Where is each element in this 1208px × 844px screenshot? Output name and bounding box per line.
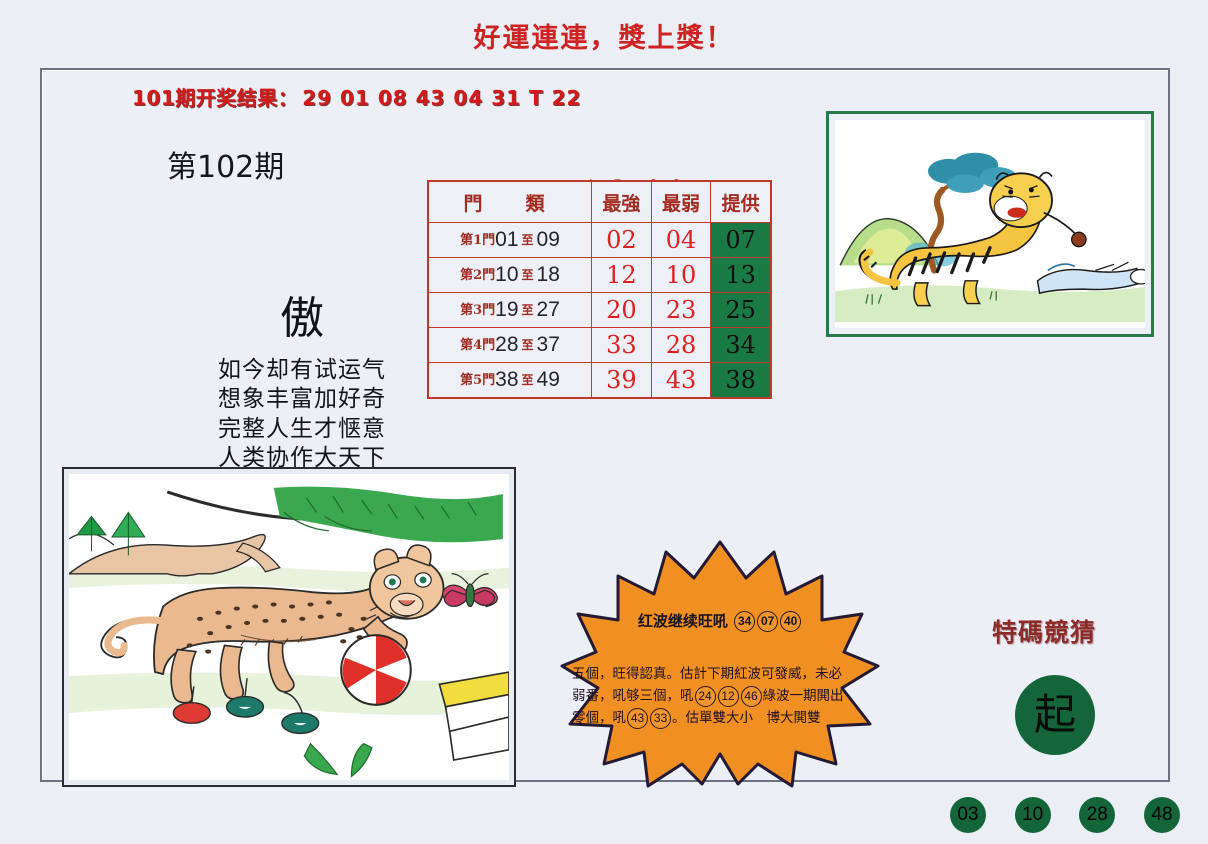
cell-gate-range: 第5門38至49	[428, 363, 592, 399]
poem-line: 完整人生才惬意	[182, 415, 422, 444]
cell-strongest: 33	[592, 328, 652, 363]
table-row: 第2門10至18 12 10 13	[428, 258, 771, 293]
gate-range-to: 18	[537, 263, 560, 286]
gate-range-to: 09	[537, 228, 560, 251]
gate-range-from: 01	[495, 228, 518, 251]
cell-strongest: 12	[592, 258, 652, 293]
col-header-weakest: 最弱	[651, 181, 711, 223]
gate-label: 第3門	[460, 303, 495, 318]
poem-line: 想象丰富加好奇	[182, 385, 422, 414]
col-header-gate: 門 類	[428, 181, 592, 223]
col-header-strongest: 最強	[592, 181, 652, 223]
table-header-row: 門 類 最強 最弱 提供	[428, 181, 771, 223]
guess-ball: 10	[1015, 797, 1051, 833]
gate-label: 第2門	[460, 268, 495, 283]
leopard-illustration	[62, 467, 516, 787]
draw-result-line: 101期开奖结果：29 01 08 43 04 31 T 22	[132, 82, 581, 111]
gate-range-to: 49	[537, 368, 560, 391]
cell-gate-range: 第3門19至27	[428, 293, 592, 328]
guess-section-title: 特碼競猜	[992, 613, 1096, 649]
gate-range-sep: 至	[522, 338, 534, 352]
tiger-drawing-icon	[835, 120, 1145, 328]
cell-weakest: 28	[651, 328, 711, 363]
cell-offer: 25	[711, 293, 771, 328]
page-banner-slogan: 好運連連，獎上獎！	[0, 16, 1208, 55]
guess-balls-row: 03 10 28 48	[950, 797, 1180, 833]
gate-label: 第1門	[460, 233, 495, 248]
gate-range-sep: 至	[522, 268, 534, 282]
guess-ball: 03	[950, 797, 986, 833]
leopard-drawing-icon	[69, 474, 509, 780]
guess-main-character: 起	[1015, 675, 1095, 755]
starburst-shape-icon	[560, 538, 880, 788]
leopard-illustration-canvas	[69, 474, 509, 780]
cell-gate-range: 第1門01至09	[428, 223, 592, 258]
cell-weakest: 23	[651, 293, 711, 328]
draw-result-prefix: 101期开奖结果：	[132, 86, 298, 110]
cell-offer: 13	[711, 258, 771, 293]
col-header-offer: 提供	[711, 181, 771, 223]
gate-table-wrapper: 門 類 最強 最弱 提供 第1門01至09 02 04 07 第2門10至18 …	[427, 180, 772, 399]
gate-range-to: 27	[537, 298, 560, 321]
cell-offer: 34	[711, 328, 771, 363]
table-row: 第5門38至49 39 43 38	[428, 363, 771, 399]
tiger-illustration-canvas	[835, 120, 1145, 328]
table-row: 第3門19至27 20 23 25	[428, 293, 771, 328]
gate-range-from: 19	[495, 298, 518, 321]
table-row: 第4門28至37 33 28 34	[428, 328, 771, 363]
gate-range-sep: 至	[522, 233, 534, 247]
starburst-callout: 红波继续旺吼 340740 五個，旺得認真。估計下期紅波可發威，未必 弱番，吼够…	[560, 538, 880, 788]
table-row: 第1門01至09 02 04 07	[428, 223, 771, 258]
issue-number: 第102期	[167, 142, 284, 186]
gate-table: 門 類 最強 最弱 提供 第1門01至09 02 04 07 第2門10至18 …	[427, 180, 772, 399]
cell-strongest: 39	[592, 363, 652, 399]
gate-range-sep: 至	[522, 373, 534, 387]
gate-range-sep: 至	[522, 303, 534, 317]
cell-offer: 07	[711, 223, 771, 258]
cell-weakest: 10	[651, 258, 711, 293]
gate-range-to: 37	[537, 333, 560, 356]
poem-body: 如今却有试运气 想象丰富加好奇 完整人生才惬意 人类协作大天下	[182, 356, 422, 474]
cell-gate-range: 第2門10至18	[428, 258, 592, 293]
poem-line: 如今却有试运气	[182, 356, 422, 385]
main-content-frame: 101期开奖结果：29 01 08 43 04 31 T 22 第102期 神算…	[40, 68, 1170, 782]
gate-range-from: 38	[495, 368, 518, 391]
gate-label: 第5門	[460, 373, 495, 388]
cell-strongest: 20	[592, 293, 652, 328]
cell-weakest: 43	[651, 363, 711, 399]
gate-range-from: 10	[495, 263, 518, 286]
cell-gate-range: 第4門28至37	[428, 328, 592, 363]
gate-label: 第4門	[460, 338, 495, 353]
cell-offer: 38	[711, 363, 771, 399]
poem-headline-char: 傲	[192, 282, 412, 346]
gate-range-from: 28	[495, 333, 518, 356]
cell-strongest: 02	[592, 223, 652, 258]
tiger-illustration	[826, 111, 1154, 337]
cell-weakest: 04	[651, 223, 711, 258]
guess-ball: 48	[1144, 797, 1180, 833]
draw-result-numbers: 29 01 08 43 04 31 T 22	[302, 86, 581, 110]
guess-ball: 28	[1079, 797, 1115, 833]
